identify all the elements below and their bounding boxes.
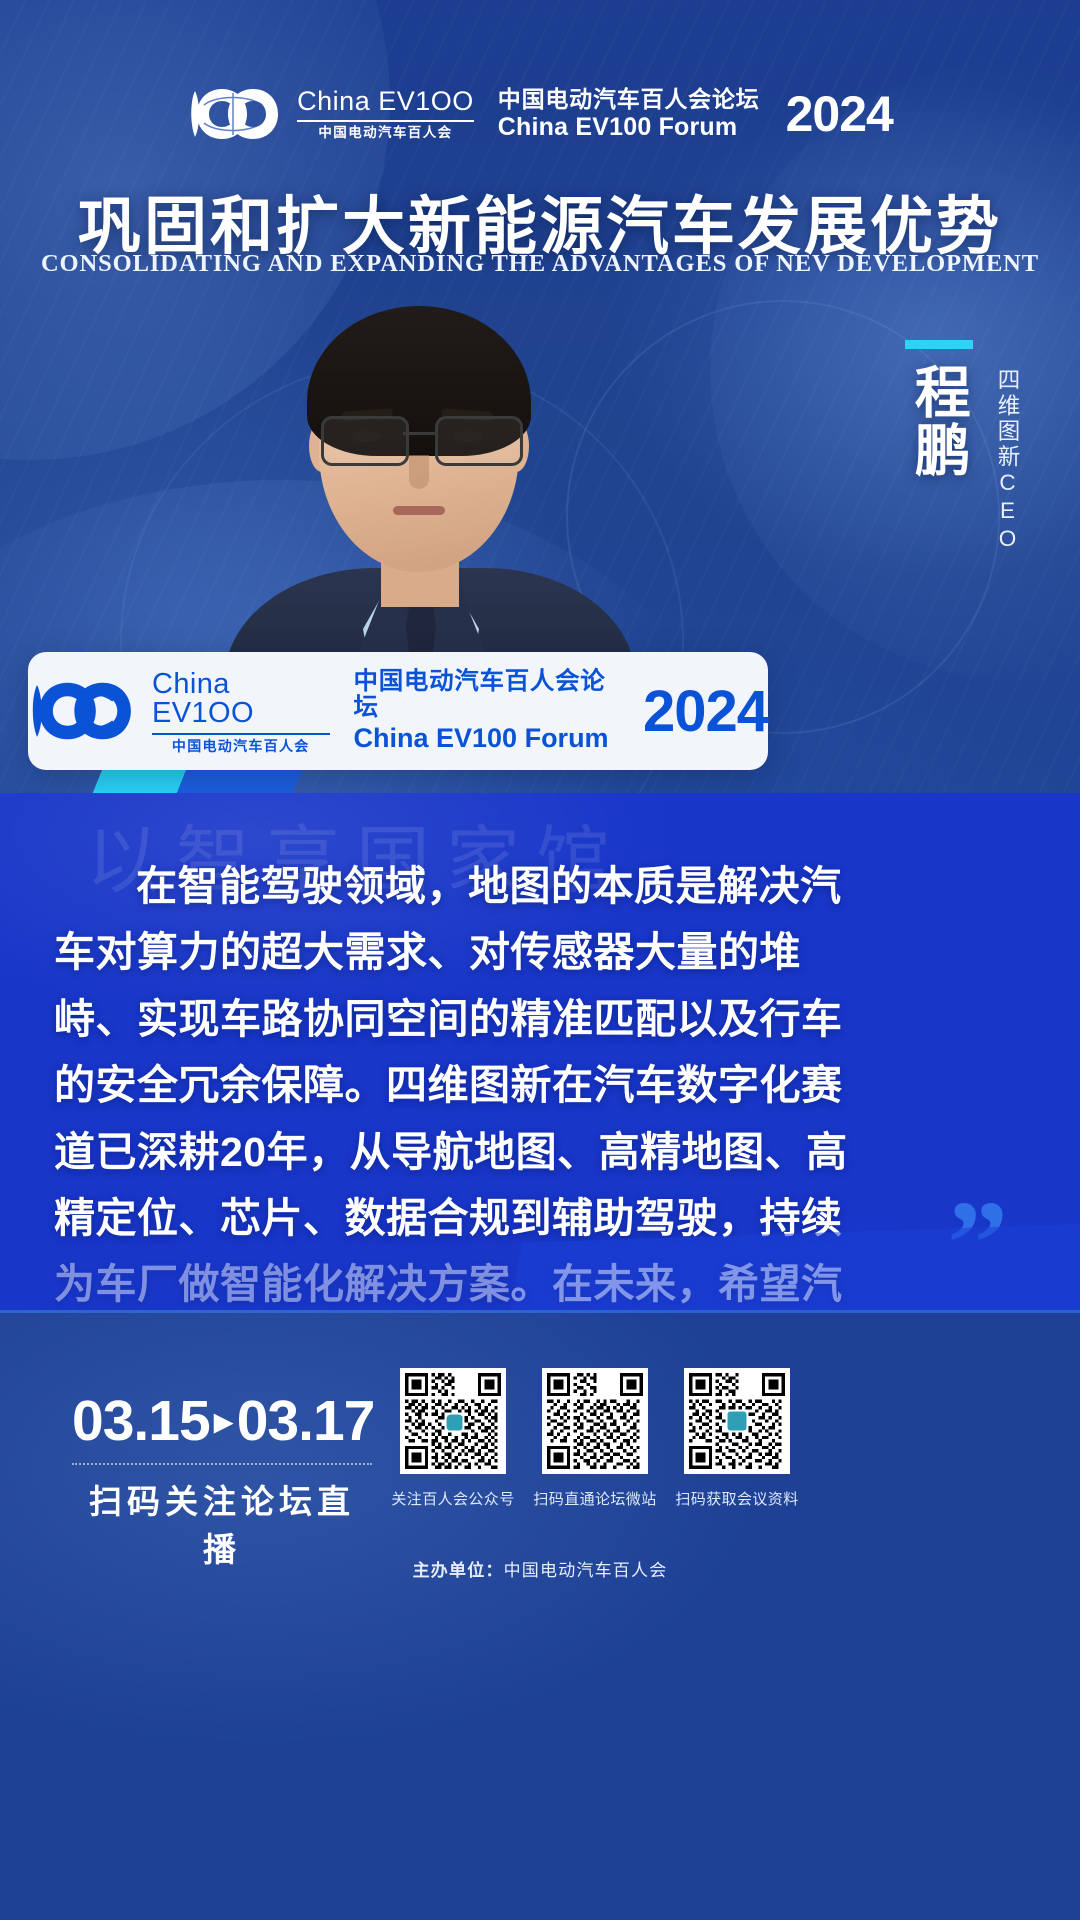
header-lockup: China EV1OO 中国电动汽车百人会 中国电动汽车百人会论坛 China …	[0, 78, 1080, 150]
qr-code-icon[interactable]	[684, 1368, 790, 1474]
speaker-accent-bar	[905, 340, 973, 349]
logobar-brand-rule	[152, 733, 330, 735]
header-brand-rule	[297, 120, 474, 122]
logobar-forum-en: China EV100 Forum	[354, 724, 615, 752]
logobar-year: 2024	[643, 678, 768, 745]
date-start: 03.15	[72, 1389, 210, 1453]
header-forum-en: China EV100 Forum	[498, 115, 760, 141]
page-subtitle: CONSOLIDATING AND EXPANDING THE ADVANTAG…	[0, 250, 1080, 278]
china-ev100-logo-icon	[187, 86, 279, 142]
quote-band: 以智享国家馆 在智能驾驶领域，地图的本质是解决汽车对算力的超大需求、对传感器大量…	[0, 793, 1080, 1310]
date-divider	[72, 1463, 372, 1465]
event-date: 03.15▸03.17	[72, 1388, 372, 1454]
header-forum-block: 中国电动汽车百人会论坛 China EV100 Forum	[498, 88, 760, 141]
qr-caption: 扫码获取会议资料	[675, 1488, 798, 1509]
qr-cell[interactable]: 关注百人会公众号	[400, 1368, 506, 1509]
poster-root: China EV1OO 中国电动汽车百人会 中国电动汽车百人会论坛 China …	[0, 0, 1080, 1920]
qr-code-icon[interactable]	[400, 1368, 506, 1474]
qr-code-icon[interactable]	[542, 1368, 648, 1474]
date-block: 03.15▸03.17 扫码关注论坛直播	[72, 1388, 372, 1571]
logobar-forum-block: 中国电动汽车百人会论坛 China EV100 Forum	[354, 669, 615, 752]
qr-cell[interactable]: 扫码获取会议资料	[684, 1368, 790, 1509]
header-brand-cn: 中国电动汽车百人会	[318, 126, 452, 140]
speaker-block: 程鹏 四维图新CEO	[901, 340, 1024, 554]
portrait-lens-right	[435, 416, 523, 466]
qr-caption: 关注百人会公众号	[391, 1488, 514, 1509]
header-brand-block: China EV1OO 中国电动汽车百人会	[297, 88, 474, 140]
host-line: 主办单位：中国电动汽车百人会	[0, 1556, 1080, 1581]
portrait-nose	[409, 455, 429, 489]
date-end: 03.17	[237, 1389, 375, 1453]
header-year: 2024	[786, 85, 893, 143]
logobar-brand-block: China EV1OO 中国电动汽车百人会	[152, 670, 330, 753]
speaker-name: 程鹏	[901, 363, 976, 479]
qr-caption: 扫码直通论坛微站	[533, 1488, 656, 1509]
logo-bar: China EV1OO 中国电动汽车百人会 中国电动汽车百人会论坛 China …	[28, 652, 768, 770]
header-brand-en: China EV1OO	[297, 88, 474, 115]
logobar-forum-cn: 中国电动汽车百人会论坛	[354, 669, 615, 720]
logobar-brand-cn: 中国电动汽车百人会	[172, 739, 310, 753]
header-forum-cn: 中国电动汽车百人会论坛	[498, 88, 760, 111]
host-name: 中国电动汽车百人会	[504, 1561, 668, 1580]
portrait-lens-left	[321, 416, 409, 466]
china-ev100-logo-icon	[28, 679, 132, 743]
qr-row: 关注百人会公众号	[400, 1368, 790, 1509]
portrait-glasses-bridge	[403, 432, 435, 435]
speaker-role: 四维图新CEO	[990, 368, 1024, 554]
qr-code-glyph	[689, 1373, 785, 1469]
host-label: 主办单位：	[413, 1561, 504, 1580]
qr-cell[interactable]: 扫码直通论坛微站	[542, 1368, 648, 1509]
logobar-brand-en: China EV1OO	[152, 670, 330, 728]
qr-code-glyph	[405, 1373, 501, 1469]
portrait-mouth	[393, 506, 445, 515]
date-caret-icon: ▸	[214, 1399, 233, 1443]
qr-code-glyph	[547, 1373, 643, 1469]
speaker-name-wrap: 程鹏	[901, 340, 976, 479]
